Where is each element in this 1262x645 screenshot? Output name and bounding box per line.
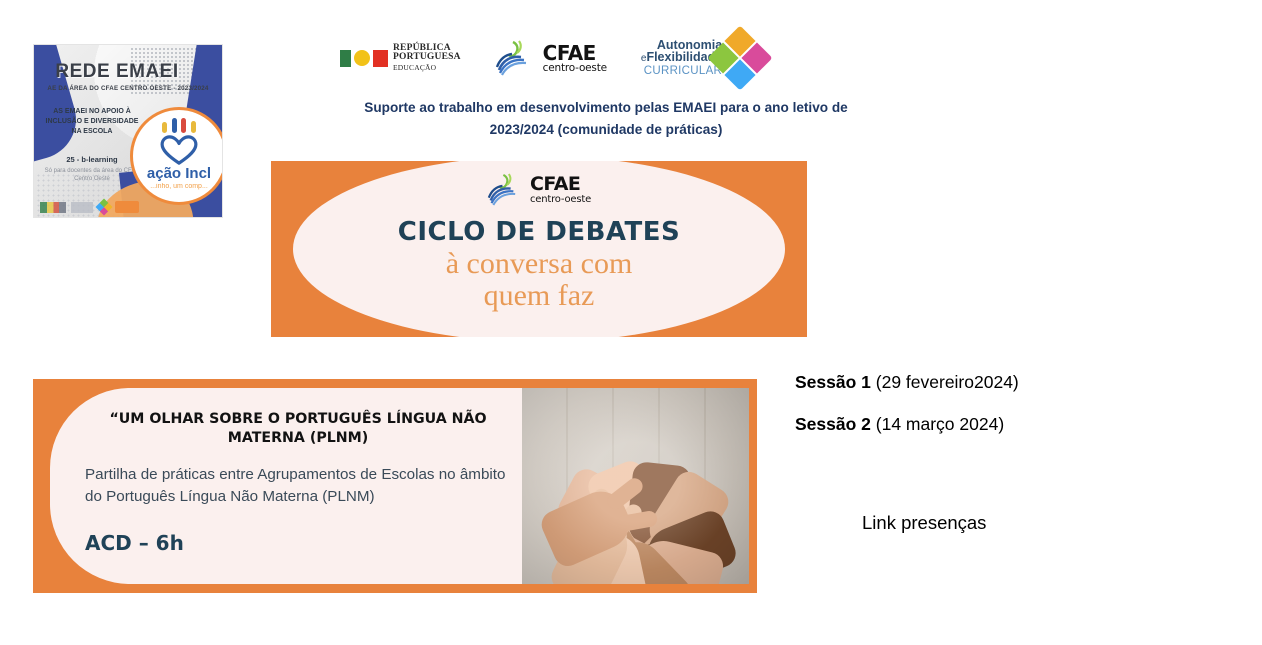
institutional-logo-row: REPÚBLICA PORTUGUESA EDUCAÇÃO CFAE centr… <box>340 30 820 86</box>
poster-note: Só para docentes da área do CFAE Centro … <box>40 167 144 183</box>
logo-republica-line2: PORTUGUESA <box>393 53 461 63</box>
plnm-title-line2: MATERNA (PLNM) <box>81 429 515 448</box>
dge-mini-logo <box>71 202 93 213</box>
heart-icon <box>160 135 198 165</box>
banner-cfae-subword: centro-oeste <box>530 194 591 205</box>
colored-fingers-icon <box>162 116 196 133</box>
headline-line-1: Suporte ao trabalho em desenvolvimento p… <box>320 97 892 119</box>
plnm-body-text: Partilha de práticas entre Agrupamentos … <box>85 464 515 508</box>
cfae-leaf-wave-icon <box>487 173 527 206</box>
hands-circle-photo <box>522 388 749 584</box>
acao-inclusiva-badge: ação Incl ...inho, um comp... <box>130 107 223 205</box>
portugal-flag-icon <box>340 50 388 67</box>
plnm-title: “UM OLHAR SOBRE O PORTUGUÊS LÍNGUA NÃO M… <box>81 410 515 448</box>
afc-line3: CURRICULAR <box>641 65 722 77</box>
poster-title: REDE EMAEI <box>42 61 192 83</box>
badge-subtext: ...inho, um comp... <box>133 183 223 190</box>
sessions-list: Sessão 1 (29 fevereiro2024) Sessão 2 (14… <box>795 372 1125 456</box>
session-1-date: (29 fevereiro2024) <box>871 372 1019 392</box>
banner-cfae-word: CFAE <box>530 175 591 194</box>
banner-cfae-logo: CFAE centro-oeste <box>487 173 591 206</box>
ciclo-subtitle-line1: à conversa com <box>446 248 633 280</box>
poster-modality: 25 - b-learning <box>40 155 144 164</box>
session-2-label: Sessão 2 <box>795 414 871 434</box>
afc-mini-logo <box>96 199 113 216</box>
poster-subtitle: AE DA ÁREA DO CFAE CENTRO OESTE - 2023/2… <box>40 85 216 92</box>
session-2-date: (14 março 2024) <box>871 414 1004 434</box>
cfae-mini-logo <box>115 201 139 213</box>
autonomia-flexibilidade-curricular-logo: Autonomia eFlexibilidade CURRICULAR <box>641 35 763 81</box>
ciclo-banner-title: CICLO DE DEBATES <box>398 217 681 247</box>
cfae-leaf-wave-icon <box>495 40 539 76</box>
plnm-banner[interactable]: “UM OLHAR SOBRE O PORTUGUÊS LÍNGUA NÃO M… <box>33 379 757 593</box>
cfae-centro-oeste-logo: CFAE centro-oeste <box>495 40 607 76</box>
cfae-logo-subword: centro-oeste <box>543 63 607 74</box>
headline-line-2: 2023/2024 (comunidade de práticas) <box>320 119 892 141</box>
plnm-title-line1: “UM OLHAR SOBRE O PORTUGUÊS LÍNGUA NÃO <box>81 410 515 429</box>
cfae-logo-word: CFAE <box>543 43 607 63</box>
rede-emaei-poster-thumbnail[interactable]: REDE EMAEI AE DA ÁREA DO CFAE CENTRO OES… <box>33 44 223 218</box>
badge-text: ação Incl <box>133 165 223 182</box>
link-presencas-label[interactable]: Link presenças <box>862 512 986 534</box>
logo-republica-line3: EDUCAÇÃO <box>393 63 461 73</box>
ciclo-de-debates-banner[interactable]: CFAE centro-oeste CICLO DE DEBATES à con… <box>271 161 807 337</box>
photo-vignette <box>522 388 749 584</box>
afc-diamond-icon <box>708 25 773 90</box>
ciclo-subtitle-line2: quem faz <box>446 280 633 312</box>
poster-body-text: AS EMAEI NO APOIO À INCLUSÃO E DIVERSIDA… <box>40 107 144 137</box>
republica-portuguesa-logo: REPÚBLICA PORTUGUESA EDUCAÇÃO <box>340 44 461 73</box>
ciclo-banner-subtitle: à conversa com quem faz <box>446 248 633 312</box>
page-headline: Suporte ao trabalho em desenvolvimento p… <box>320 97 892 141</box>
republica-portuguesa-mini-logo <box>40 202 66 213</box>
session-1-label: Sessão 1 <box>795 372 871 392</box>
session-row-1: Sessão 1 (29 fevereiro2024) <box>795 372 1125 392</box>
session-row-2: Sessão 2 (14 março 2024) <box>795 414 1125 434</box>
poster-footer-logos <box>40 201 139 213</box>
plnm-acd-label: ACD – 6h <box>85 531 184 555</box>
